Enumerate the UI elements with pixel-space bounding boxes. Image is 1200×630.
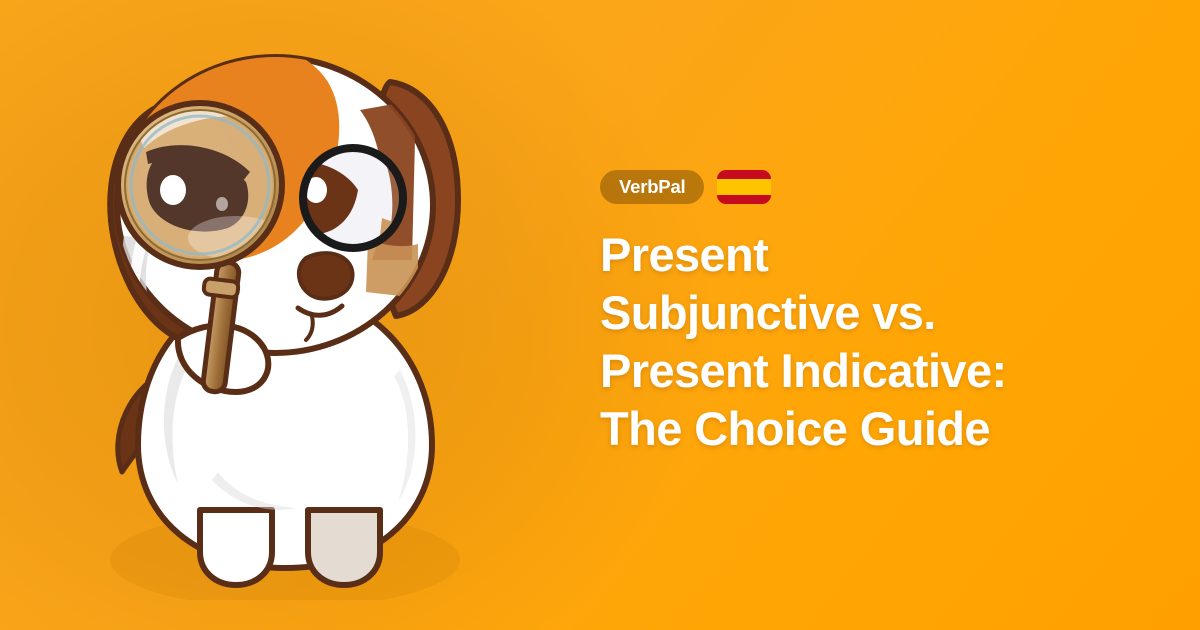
spain-flag-icon [717,170,771,204]
content-column: VerbPal Present Subjunctive vs. Present … [600,170,1120,458]
detective-dog-mascot [60,40,500,600]
og-card: VerbPal Present Subjunctive vs. Present … [0,0,1200,630]
page-title: Present Subjunctive vs. Present Indicati… [600,226,1030,458]
mascot-leg-right [308,510,380,585]
mascot-eye-left-shine [160,175,186,205]
mascot-nose [299,253,353,299]
mascot-leg-left [200,510,272,585]
brand-badge-label: VerbPal [619,178,685,197]
brand-row: VerbPal [600,170,1120,204]
brand-badge[interactable]: VerbPal [600,170,704,204]
mascot-eye-left-shine-2 [216,197,228,211]
